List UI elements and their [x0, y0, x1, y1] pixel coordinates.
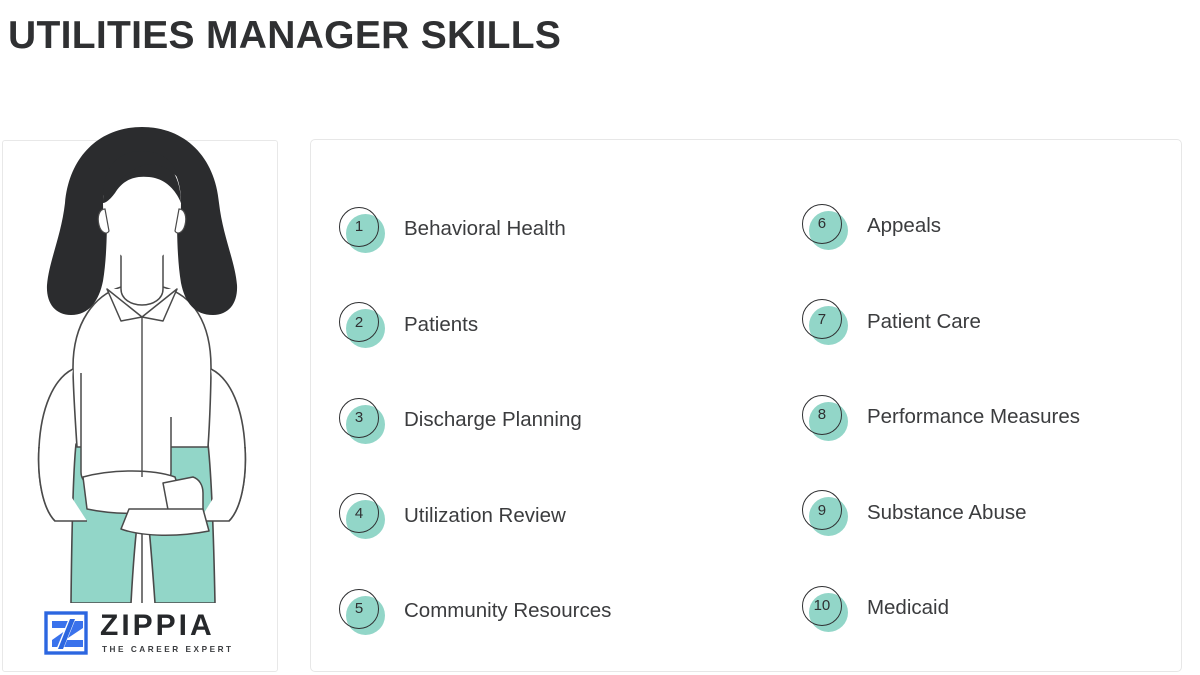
skill-number-badge: 10	[802, 586, 848, 632]
page-title: UTILITIES MANAGER SKILLS	[8, 14, 561, 59]
skill-label: Patient Care	[867, 310, 981, 335]
skill-item[interactable]: 10 Medicaid	[802, 561, 1181, 657]
skill-number: 5	[339, 589, 379, 629]
skill-number: 4	[339, 493, 379, 533]
skills-columns: 1 Behavioral Health 2 Patients	[311, 140, 1181, 671]
person-illustration-icon	[3, 117, 279, 603]
zippia-z-mark-icon	[43, 610, 89, 656]
zippia-logo: ZIPPIA THE CAREER EXPERT	[43, 610, 234, 656]
skills-column-right: 6 Appeals 7 Patient Care	[762, 140, 1181, 671]
skill-number-badge: 6	[802, 204, 848, 250]
skill-number: 9	[802, 490, 842, 530]
skill-label: Behavioral Health	[404, 217, 566, 242]
skill-number-badge: 3	[339, 398, 385, 444]
skill-number-badge: 1	[339, 207, 385, 253]
skill-number: 1	[339, 207, 379, 247]
skill-number: 3	[339, 398, 379, 438]
skills-card: 1 Behavioral Health 2 Patients	[310, 139, 1182, 672]
skill-number: 2	[339, 302, 379, 342]
skill-item[interactable]: 6 Appeals	[802, 179, 1181, 275]
skill-label: Performance Measures	[867, 405, 1080, 430]
skill-label: Utilization Review	[404, 504, 566, 529]
skill-label: Patients	[404, 313, 478, 338]
skill-label: Community Resources	[404, 599, 611, 624]
skill-item[interactable]: 8 Performance Measures	[802, 370, 1181, 466]
skill-item[interactable]: 2 Patients	[339, 278, 762, 374]
skill-number: 7	[802, 299, 842, 339]
zippia-wordmark: ZIPPIA	[100, 611, 234, 641]
illustration-panel: ZIPPIA THE CAREER EXPERT	[2, 140, 278, 672]
skill-number-badge: 7	[802, 299, 848, 345]
skill-item[interactable]: 4 Utilization Review	[339, 469, 762, 565]
skill-number-badge: 4	[339, 493, 385, 539]
skill-label: Substance Abuse	[867, 501, 1027, 526]
skill-item[interactable]: 1 Behavioral Health	[339, 182, 762, 278]
skill-item[interactable]: 3 Discharge Planning	[339, 373, 762, 469]
skill-number-badge: 2	[339, 302, 385, 348]
skill-label: Discharge Planning	[404, 408, 582, 433]
skill-number-badge: 8	[802, 395, 848, 441]
skill-number-badge: 9	[802, 490, 848, 536]
skill-item[interactable]: 7 Patient Care	[802, 275, 1181, 371]
skill-label: Appeals	[867, 214, 941, 239]
skill-number: 8	[802, 395, 842, 435]
zippia-tagline: THE CAREER EXPERT	[102, 646, 234, 654]
skill-number: 10	[802, 586, 842, 626]
skill-item[interactable]: 9 Substance Abuse	[802, 466, 1181, 562]
skill-label: Medicaid	[867, 596, 949, 621]
skills-column-left: 1 Behavioral Health 2 Patients	[311, 140, 762, 671]
skill-number-badge: 5	[339, 589, 385, 635]
infographic-page: UTILITIES MANAGER SKILLS	[0, 0, 1200, 675]
skill-item[interactable]: 5 Community Resources	[339, 564, 762, 660]
skill-number: 6	[802, 204, 842, 244]
